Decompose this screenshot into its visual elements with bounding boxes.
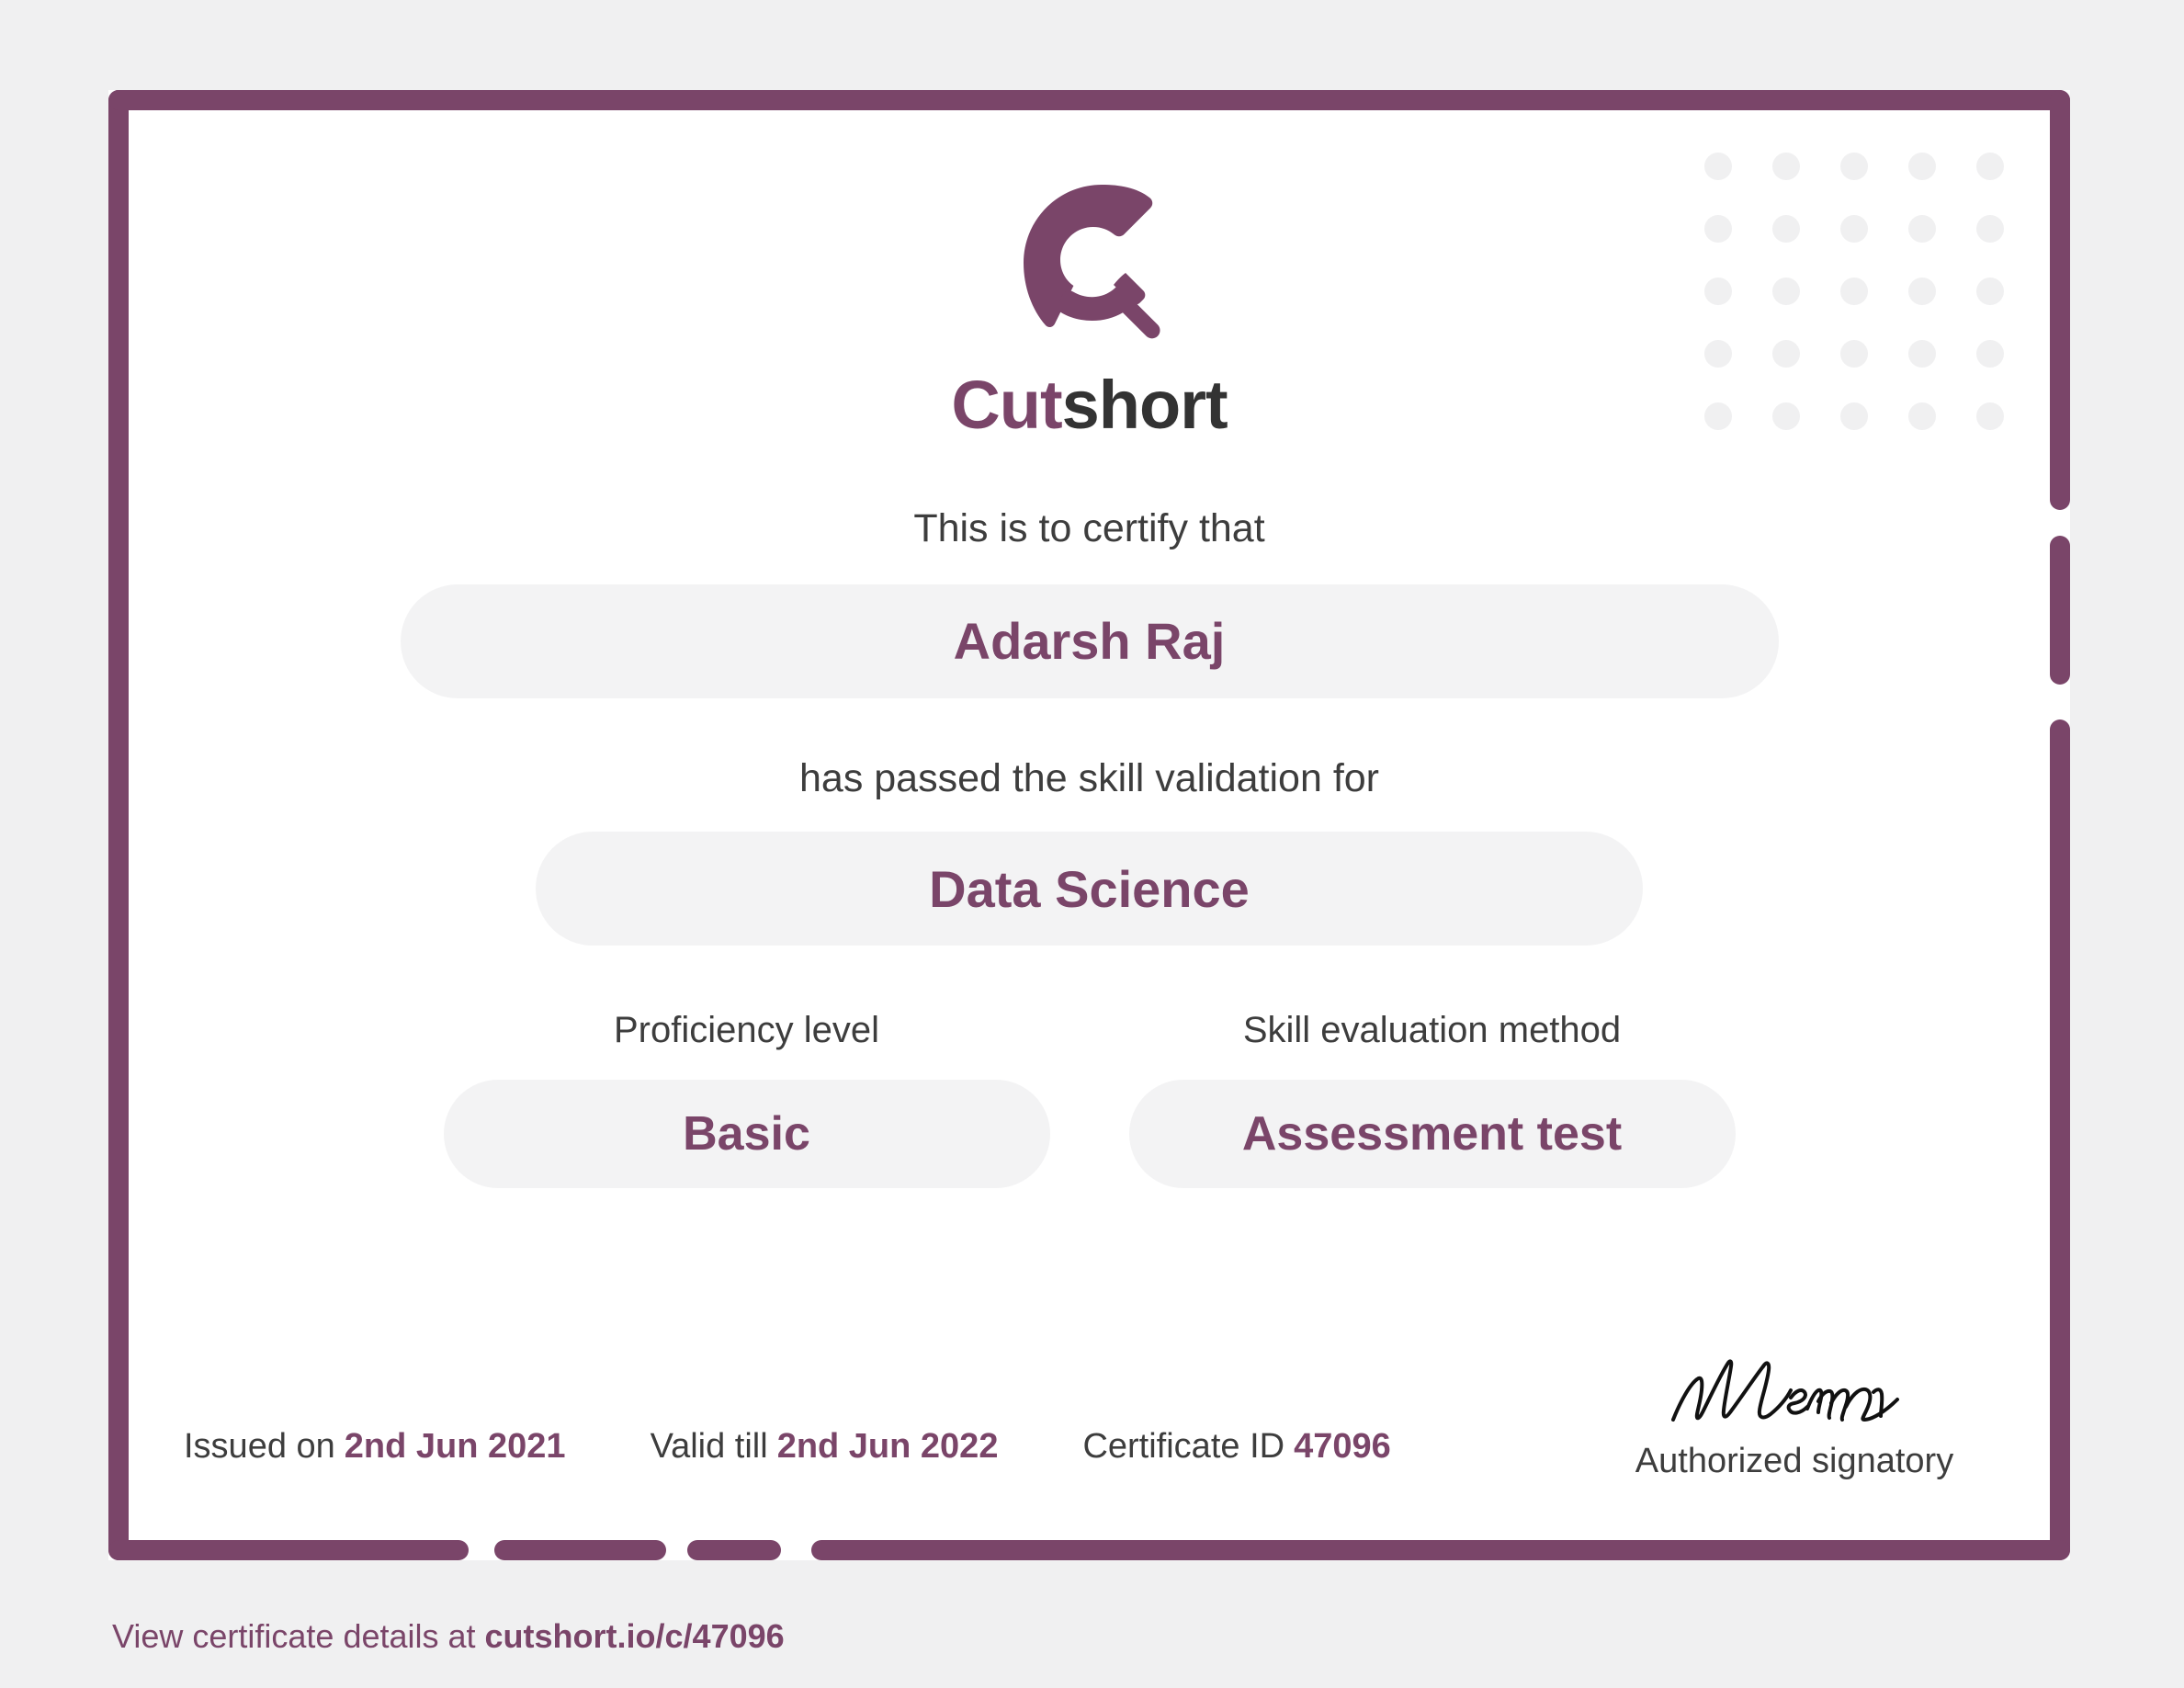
proficiency-value: Basic <box>683 1106 810 1161</box>
view-certificate-link[interactable]: View certificate details at cutshort.io/… <box>112 1617 785 1656</box>
proficiency-value-pill: Basic <box>444 1080 1050 1188</box>
certificate-id-item: Certificate ID47096 <box>1082 1427 1390 1467</box>
skill-name: Data Science <box>929 859 1250 919</box>
recipient-name: Adarsh Raj <box>954 611 1226 671</box>
view-link-url[interactable]: cutshort.io/c/47096 <box>485 1617 785 1655</box>
skill-name-pill: Data Science <box>536 832 1643 946</box>
evaluation-value: Assessment test <box>1242 1106 1622 1161</box>
signature-icon <box>1657 1348 1932 1436</box>
wordmark-cut: Cut <box>951 367 1061 443</box>
certificate-id-value: 47096 <box>1294 1427 1391 1466</box>
wordmark-short: short <box>1062 367 1228 443</box>
proficiency-label: Proficiency level <box>444 1008 1050 1052</box>
issued-on-item: Issued on2nd Jun 2021 <box>184 1427 566 1467</box>
proficiency-column: Proficiency level Basic <box>444 1008 1050 1188</box>
evaluation-value-pill: Assessment test <box>1129 1080 1736 1188</box>
valid-till-item: Valid till2nd Jun 2022 <box>651 1427 999 1467</box>
valid-till-label: Valid till <box>651 1427 768 1466</box>
cutshort-logo-icon <box>998 171 1182 355</box>
recipient-name-pill: Adarsh Raj <box>401 584 1779 698</box>
brand-header: Cutshort <box>108 171 2070 439</box>
issued-on-value: 2nd Jun 2021 <box>345 1427 566 1466</box>
signatory-caption: Authorized signatory <box>1574 1442 2015 1481</box>
valid-till-value: 2nd Jun 2022 <box>777 1427 999 1466</box>
evaluation-column: Skill evaluation method Assessment test <box>1129 1008 1736 1188</box>
signature-block: Authorized signatory <box>1574 1348 2015 1481</box>
view-link-prefix: View certificate details at <box>112 1617 485 1655</box>
certificate-meta-columns: Proficiency level Basic Skill evaluation… <box>108 1008 2070 1188</box>
certificate-id-label: Certificate ID <box>1082 1427 1284 1466</box>
evaluation-label: Skill evaluation method <box>1129 1008 1736 1052</box>
certificate-footer-meta: Issued on2nd Jun 2021 Valid till2nd Jun … <box>184 1427 1476 1467</box>
skill-caption: has passed the skill validation for <box>108 755 2070 803</box>
intro-caption: This is to certify that <box>108 505 2070 553</box>
brand-wordmark: Cutshort <box>108 371 2070 439</box>
certificate-page: Cutshort This is to certify that Adarsh … <box>0 0 2184 1688</box>
certificate-card: Cutshort This is to certify that Adarsh … <box>108 90 2070 1560</box>
issued-on-label: Issued on <box>184 1427 335 1466</box>
certificate-body: This is to certify that Adarsh Raj has p… <box>108 505 2070 1188</box>
